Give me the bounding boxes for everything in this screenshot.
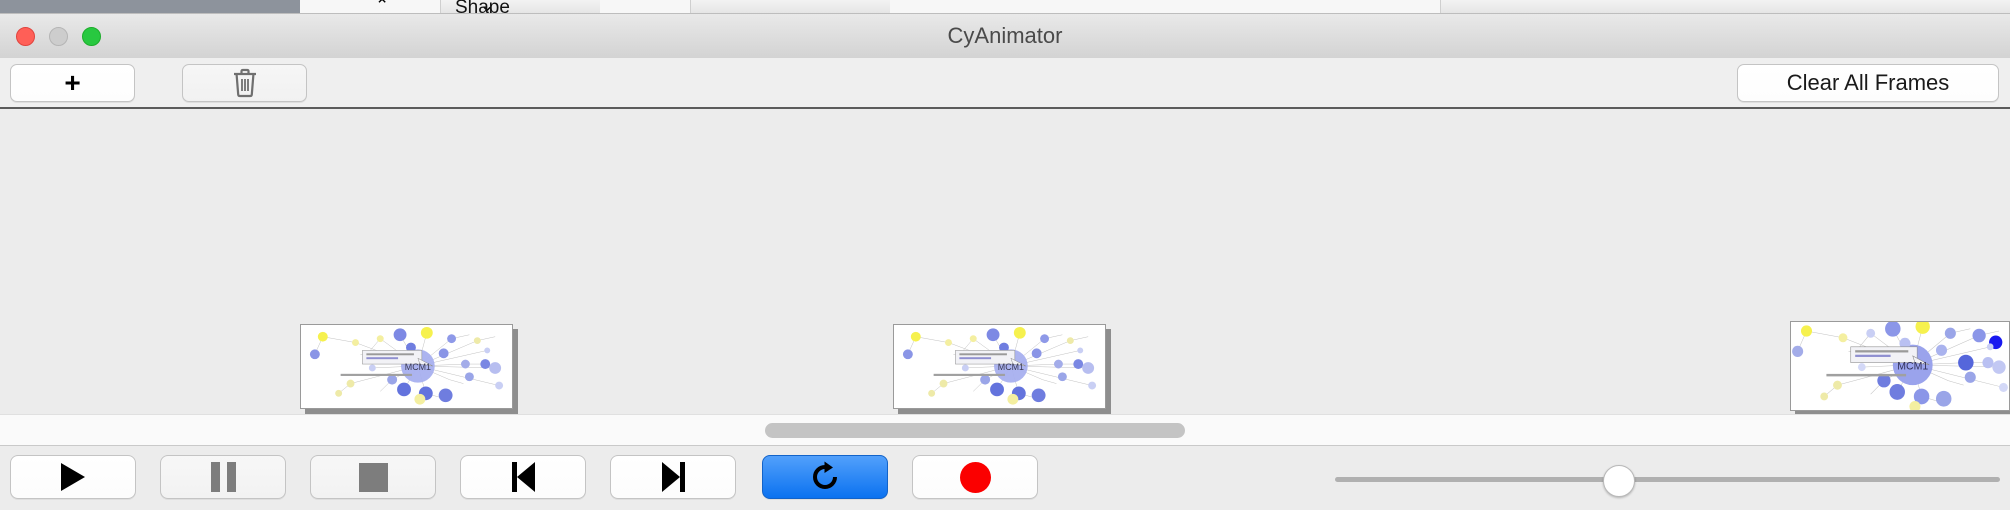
svg-text:MCM1: MCM1 xyxy=(405,362,431,372)
trash-icon xyxy=(232,68,258,98)
skip-back-icon xyxy=(512,462,535,492)
stop-button[interactable] xyxy=(310,455,436,499)
svg-text:MCM1: MCM1 xyxy=(998,362,1024,372)
record-icon xyxy=(960,462,991,493)
network-thumbnail-graph: MCM1 xyxy=(301,325,512,408)
timeline-panel[interactable]: MCM1 xyxy=(0,109,2010,414)
pause-icon xyxy=(211,462,236,492)
timeline-scrollbar[interactable] xyxy=(0,414,2010,446)
background-window-segment xyxy=(300,0,361,14)
slider-thumb[interactable] xyxy=(1603,465,1635,497)
pause-button[interactable] xyxy=(160,455,286,499)
add-frame-button[interactable]: + xyxy=(10,64,135,102)
slider-track[interactable] xyxy=(1335,477,2000,482)
frame-sheet: MCM1 xyxy=(1790,321,2010,411)
window-title: CyAnimator xyxy=(0,14,2010,58)
record-button[interactable] xyxy=(912,455,1038,499)
network-thumbnail-graph: MCM1 xyxy=(894,325,1105,408)
skip-forward-icon xyxy=(662,462,685,492)
background-window-dark-panel xyxy=(0,0,300,14)
play-icon xyxy=(61,463,85,491)
title-bar: CyAnimator xyxy=(0,14,2010,59)
delete-frame-button[interactable] xyxy=(182,64,307,102)
network-thumbnail-graph: MCM1 xyxy=(1791,322,2009,410)
frame-thumbnail[interactable]: MCM1 xyxy=(893,324,1106,409)
next-frame-button[interactable] xyxy=(610,455,736,499)
loop-button[interactable] xyxy=(762,455,888,499)
toolbar: + Clear All Frames xyxy=(0,58,2010,108)
animation-speed-slider[interactable] xyxy=(1335,446,2000,510)
plus-icon: + xyxy=(64,69,80,97)
clear-all-frames-label: Clear All Frames xyxy=(1787,70,1950,96)
background-window-strip: ⌃ ⌄ Shape xyxy=(0,0,2010,14)
timeline-scrollbar-thumb[interactable] xyxy=(765,423,1185,438)
frame-thumbnail[interactable]: MCM1 xyxy=(1790,321,2010,411)
background-window-segment xyxy=(890,0,1141,14)
svg-text:MCM1: MCM1 xyxy=(1897,360,1928,372)
prev-frame-button[interactable] xyxy=(460,455,586,499)
frame-sheet: MCM1 xyxy=(300,324,513,409)
frame-thumbnail[interactable]: MCM1 xyxy=(300,324,513,409)
loop-icon xyxy=(808,460,842,494)
chevron-up-icon: ⌃ xyxy=(375,0,389,14)
background-window-label: Shape xyxy=(455,0,510,14)
background-window-segment xyxy=(360,0,441,14)
background-window-segment xyxy=(600,0,691,14)
background-window-segment xyxy=(1140,0,1441,14)
stop-icon xyxy=(359,463,388,492)
play-button[interactable] xyxy=(10,455,136,499)
cyanimator-window: ⌃ ⌄ Shape CyAnimator + Clear All Frames xyxy=(0,0,2010,510)
clear-all-frames-button[interactable]: Clear All Frames xyxy=(1737,64,1999,102)
frame-sheet: MCM1 xyxy=(893,324,1106,409)
